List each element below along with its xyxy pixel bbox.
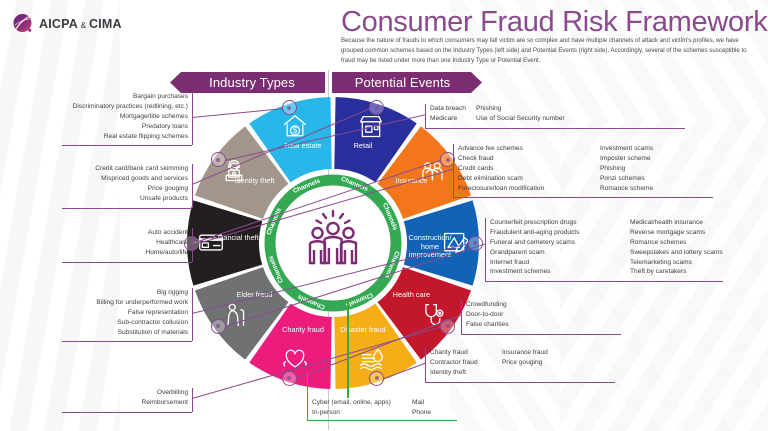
callout-construction: Big riggingBilling for underperformed wo… <box>0 288 188 337</box>
callout-item: Medical/health insurance <box>630 218 768 228</box>
callout-item: Overbilling <box>0 388 188 398</box>
callout-item: Imposter scheme <box>600 154 758 164</box>
channels-item: In-person <box>312 408 412 418</box>
channels-stem <box>347 300 349 398</box>
callout-bracket <box>192 92 193 145</box>
callout-bracket <box>425 348 426 382</box>
callout-item: Reimbursement <box>0 398 188 408</box>
callout-item: Theft by caretakers <box>630 267 768 277</box>
callout-item: Bargain purchases <box>0 92 188 102</box>
callout-item: Medicare <box>430 114 476 124</box>
callout-bracket <box>425 104 426 128</box>
fraud-wheel: $ Real estateRetailInsuranceConstruction… <box>186 96 480 390</box>
callout-elder: Counterfeit prescription drugsFraudulent… <box>490 218 768 277</box>
channels-bracket <box>307 372 308 420</box>
callout-item: Insurance fraud <box>502 348 660 358</box>
callout-channels: Cyber (email, online, apps)In-personMail… <box>312 398 482 418</box>
callout-item: Home/auto/life <box>0 248 188 258</box>
callout-item: Debt elimination scam <box>458 174 600 184</box>
callout-item: Counterfeit prescription drugs <box>490 218 630 228</box>
callout-item: Grandparent scam <box>490 248 630 258</box>
callout-item: Advance fee schemes <box>458 144 600 154</box>
callout-item: Substitution of materials <box>0 328 188 338</box>
callout-item: Price gouging <box>0 184 188 194</box>
callout-bracket <box>461 300 462 334</box>
callout-item: False representation <box>0 308 188 318</box>
callout-bracket-foot <box>62 262 192 263</box>
brand-wordmark: AICPA & CIMA <box>39 17 122 31</box>
callout-health-care: OverbillingReimbursement <box>0 388 188 408</box>
aicpa-cima-logo-icon <box>12 13 34 35</box>
connector-dot-real-estate[interactable] <box>282 100 297 115</box>
callout-item: Charity fraud <box>430 348 502 358</box>
callout-item: Billing for underperformed work <box>0 298 188 308</box>
page-title: Consumer Fraud Risk Framework <box>341 6 767 39</box>
callout-item: Identity theft <box>430 368 502 378</box>
callout-item: Auto accident <box>0 228 188 238</box>
callout-item: Internet fraud <box>490 258 630 268</box>
callout-item: Phishing <box>476 104 730 114</box>
callout-charity: CrowdfundingDoor-to-doorFalse charities <box>466 300 666 330</box>
banner-potential-events[interactable]: Potential Events <box>332 72 482 93</box>
page-subtitle: Because the nature of frauds to which co… <box>341 36 759 66</box>
callout-item: Use of Social Security number <box>476 114 730 124</box>
callout-bracket-foot <box>62 145 192 146</box>
callout-item: Telemarketing scams <box>630 258 768 268</box>
brand-aicpa: AICPA <box>39 17 78 31</box>
callout-bracket <box>192 164 193 208</box>
callout-item: Sweepstakes and lottery scams <box>630 248 768 258</box>
channels-item: Mail <box>412 398 482 408</box>
callout-item: Big rigging <box>0 288 188 298</box>
callout-bracket-foot <box>425 128 685 129</box>
callout-item: Unsafe products <box>0 194 188 204</box>
callout-bracket-foot <box>62 341 192 342</box>
callout-bracket <box>485 218 486 281</box>
callout-financial: Advance fee schemesCheck fraudCredit car… <box>458 144 758 193</box>
callout-item: Credit cards <box>458 164 600 174</box>
callout-item: Fraudulent anti-aging products <box>490 228 630 238</box>
brand-logo: AICPA & CIMA <box>12 13 122 35</box>
callout-item: Romance schemes <box>630 238 768 248</box>
callout-retail: Credit card/bank card skimmingMispriced … <box>0 164 188 204</box>
callout-item: Funeral and cemetery scams <box>490 238 630 248</box>
banner-industry-types[interactable]: Industry Types <box>170 72 325 93</box>
callout-bracket <box>192 288 193 341</box>
callout-item: Real estate flipping schemes <box>0 132 188 142</box>
callout-item: False charities <box>466 320 666 330</box>
callout-item: Door-to-door <box>466 310 666 320</box>
callout-item: Mispriced goods and services <box>0 174 188 184</box>
callout-item: Price gouging <box>502 358 660 368</box>
callout-item: Discriminatory practices (redlining, etc… <box>0 102 188 112</box>
channels-bracket-foot <box>307 420 457 421</box>
callout-item: Investment schemes <box>490 267 630 277</box>
callout-item: Crowdfunding <box>466 300 666 310</box>
callout-identity: Data breachMedicarePhishingUse of Social… <box>430 104 730 124</box>
callout-item: Phishing <box>600 164 758 174</box>
callout-bracket-foot <box>425 382 615 383</box>
channels-item: Cyber (email, online, apps) <box>312 398 412 408</box>
callout-item: Contractor fraud <box>430 358 502 368</box>
callout-item: Sub-contractor collusion <box>0 318 188 328</box>
callout-item: Credit card/bank card skimming <box>0 164 188 174</box>
callout-item: Romance scheme <box>600 184 758 194</box>
group-of-people-icon <box>299 208 367 276</box>
callout-bracket-foot <box>485 281 723 282</box>
callout-real-estate: Bargain purchasesDiscriminatory practice… <box>0 92 188 141</box>
callout-item: Mortgage/title schemes <box>0 112 188 122</box>
callout-disaster: Charity fraudContractor fraudIdentity th… <box>430 348 660 378</box>
callout-bracket <box>192 388 193 412</box>
callout-item: Healthcare <box>0 238 188 248</box>
connector-dot-elder[interactable] <box>211 319 226 334</box>
callout-item: Reverse mortgage scams <box>630 228 768 238</box>
callout-item: Data breach <box>430 104 476 114</box>
callout-bracket <box>192 228 193 262</box>
callout-item: Predatory loans <box>0 122 188 132</box>
callout-item: Foreclosure/loan modification <box>458 184 600 194</box>
callout-insurance: Auto accidentHealthcareHome/auto/life <box>0 228 188 258</box>
callout-item: Check fraud <box>458 154 600 164</box>
callout-bracket-foot <box>62 412 192 413</box>
callout-item: Ponzi schemes <box>600 174 758 184</box>
connector-dot-disaster[interactable] <box>369 371 384 386</box>
callout-bracket <box>453 144 454 197</box>
callout-bracket-foot <box>453 197 713 198</box>
channels-item: Phone <box>412 408 482 418</box>
brand-cima: CIMA <box>89 17 122 31</box>
connector-dot-identity[interactable] <box>211 152 226 167</box>
connector-dot-charity[interactable] <box>282 371 297 386</box>
callout-item: Investment scams <box>600 144 758 154</box>
callout-bracket-foot <box>62 208 192 209</box>
infographic-canvas: AICPA & CIMA Consumer Fraud Risk Framewo… <box>0 0 768 431</box>
callout-bracket-foot <box>461 334 621 335</box>
brand-amp: & <box>78 20 89 30</box>
